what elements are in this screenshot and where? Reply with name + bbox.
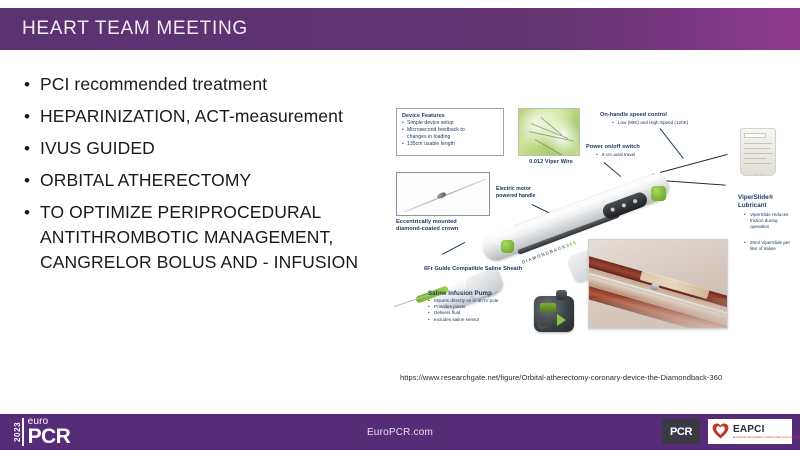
list-item: • TO OPTIMIZE PERIPROCEDURAL ANTITHROMBO… [24, 200, 396, 275]
page-title: HEART TEAM MEETING [0, 18, 248, 40]
source-url: https://www.researchgate.net/figure/Orbi… [400, 373, 722, 382]
device-features-heading: Device Features [402, 113, 498, 120]
logo-year: 2023 [10, 417, 22, 447]
eapci-name: EAPCI [733, 425, 800, 435]
device-features-item: 135cm usable length [402, 141, 498, 148]
device-cable-secondary [660, 180, 726, 186]
vessel-surrounding-tissue [589, 298, 727, 328]
heart-icon [712, 423, 729, 440]
slide-title-bar: HEART TEAM MEETING [0, 8, 800, 50]
device-features-item: Microsecond feedback to [402, 127, 498, 134]
europcr-logo: 2023 euro PCR [10, 417, 70, 447]
speed-control-heading: On-handle speed control [600, 112, 667, 119]
logo-pcr-text: PCR [28, 427, 71, 447]
pump-play-icon [557, 314, 566, 326]
bullet-text: HEPARINIZATION, ACT-measurement [40, 104, 343, 129]
bullet-dot-icon: • [24, 104, 40, 129]
eapci-subtitle: European Association of Percutaneous Car… [733, 435, 800, 439]
slide-footer: EuroPCR.com 2023 euro PCR PCR EAPCI [0, 414, 800, 450]
list-item: • PCI recommended treatment [24, 72, 396, 97]
list-item: • ORBITAL ATHERECTOMY [24, 168, 396, 193]
pump-roller-arm [537, 316, 549, 329]
power-switch-detail: 8 cm axial travel [596, 152, 635, 158]
bullet-list: • PCI recommended treatment • HEPARINIZA… [24, 72, 396, 282]
viper-wire-image [518, 108, 580, 156]
power-switch-heading: Power on/off switch [586, 144, 640, 151]
viperslide-item: ViperSlide reduces friction during opera… [744, 212, 790, 231]
bullet-dot-icon: • [24, 168, 40, 193]
bullet-text: IVUS GUIDED [40, 136, 155, 161]
viperslide-bag-image [740, 128, 776, 176]
viperslide-heading-line2: Lubricant [738, 202, 767, 209]
saline-pump-item: Includes saline sensor [428, 317, 538, 323]
list-item: • IVUS GUIDED [24, 136, 396, 161]
saline-pump-heading: Saline Infusion Pump [428, 290, 538, 298]
device-features-item: changes in loading [402, 134, 498, 141]
bullet-text: PCI recommended treatment [40, 72, 267, 97]
bag-port-left [754, 174, 757, 176]
speed-control-leader-line [660, 128, 684, 158]
device-power-switch-knob [501, 240, 514, 253]
pcr-badge: PCR [662, 419, 700, 444]
sheath-caption: 6Fr Guide Compatible Saline Sheath [424, 266, 522, 273]
device-cable [660, 154, 728, 173]
slide-root: HEART TEAM MEETING • PCI recommended tre… [0, 0, 800, 450]
vessel-cutaway-image [588, 239, 728, 329]
speed-control-detail: Low (80K) and High Speed (120K) [612, 120, 688, 126]
viperslide-heading-line1: ViperSlide® [738, 194, 773, 201]
device-barrel-highlight [490, 175, 662, 246]
pump-display [540, 303, 556, 312]
device-rear-connector-knob [651, 186, 666, 201]
bullet-dot-icon: • [24, 136, 40, 161]
device-features-callout: Device Features Simple device setup Micr… [396, 108, 504, 156]
pump-head [556, 290, 567, 300]
logo-divider [22, 418, 24, 446]
saline-pump-image [534, 296, 574, 332]
bullet-text: TO OPTIMIZE PERIPROCEDURAL ANTITHROMBOTI… [40, 200, 396, 275]
viperslide-item: 20ml ViperSlide per liter of saline [744, 240, 790, 252]
list-item: • HEPARINIZATION, ACT-measurement [24, 104, 396, 129]
device-features-item: Simple device setup [402, 120, 498, 127]
device-diagram-figure: Device Features Simple device setup Micr… [392, 104, 796, 356]
eapci-badge: EAPCI European Association of Percutaneo… [708, 419, 792, 444]
bag-port-right [760, 174, 763, 176]
bullet-dot-icon: • [24, 72, 40, 97]
bullet-dot-icon: • [24, 200, 40, 225]
partner-logos: PCR EAPCI European Association of Percut… [662, 419, 792, 444]
bag-printed-label [744, 133, 766, 138]
bullet-text: ORBITAL ATHERECTOMY [40, 168, 251, 193]
saline-pump-callout: Saline Infusion Pump Mounts directly on … [428, 290, 538, 323]
